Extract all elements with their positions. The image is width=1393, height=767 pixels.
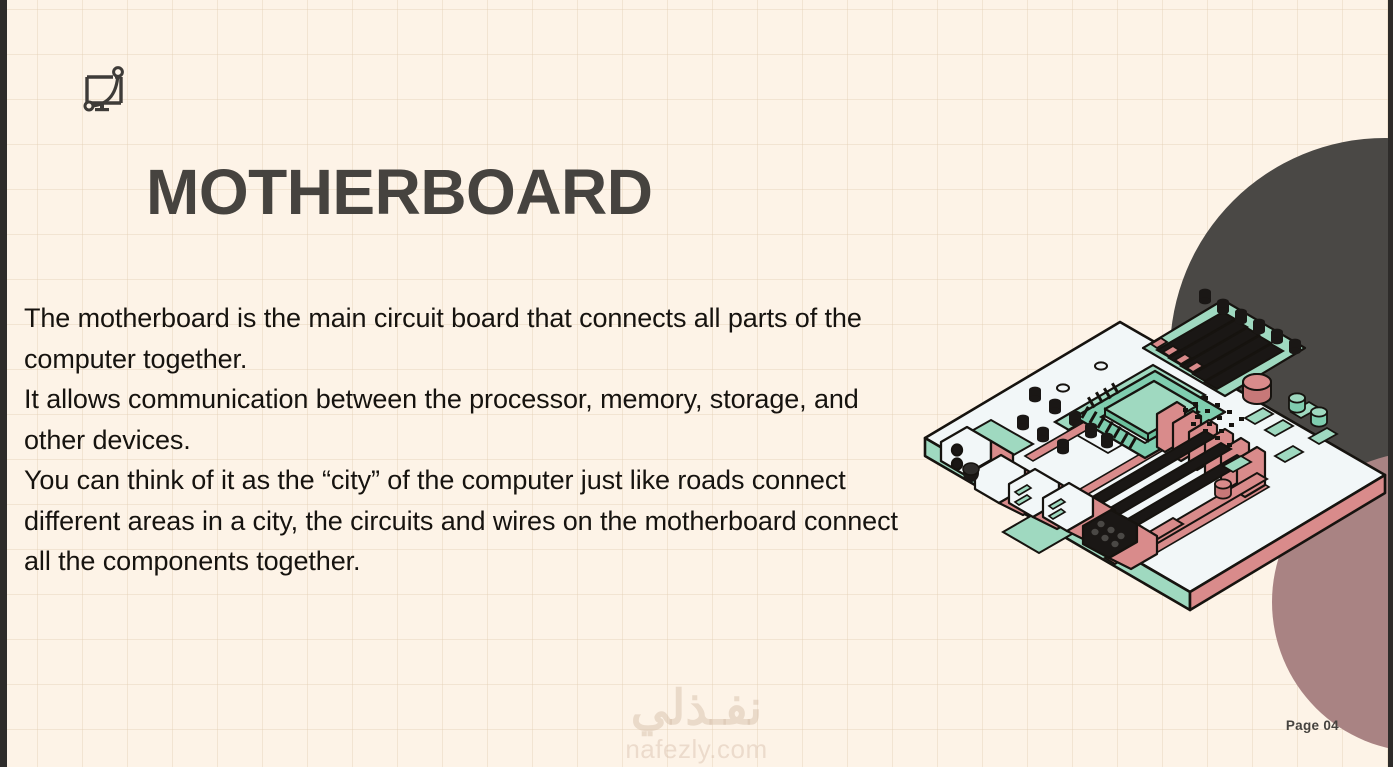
isometric-motherboard-illustration bbox=[905, 270, 1393, 620]
watermark-arabic: نفـذلي bbox=[0, 685, 1393, 733]
page-title: MOTHERBOARD bbox=[146, 155, 652, 229]
watermark: نفـذلي nafezly.com bbox=[0, 685, 1393, 766]
body-line-3: You can think of it as the “city” of the… bbox=[24, 460, 914, 582]
left-edge-bar bbox=[0, 0, 7, 767]
presentation-slide: MOTHERBOARD The motherboard is the main … bbox=[0, 0, 1393, 767]
page-number: Page 04 bbox=[1286, 718, 1339, 733]
pen-node-frame-icon bbox=[83, 63, 139, 115]
watermark-url: nafezly.com bbox=[0, 733, 1393, 766]
body-text-block: The motherboard is the main circuit boar… bbox=[24, 298, 914, 582]
body-line-1: The motherboard is the main circuit boar… bbox=[24, 298, 914, 379]
right-edge-bar bbox=[1388, 0, 1393, 767]
body-line-2: It allows communication between the proc… bbox=[24, 379, 914, 460]
